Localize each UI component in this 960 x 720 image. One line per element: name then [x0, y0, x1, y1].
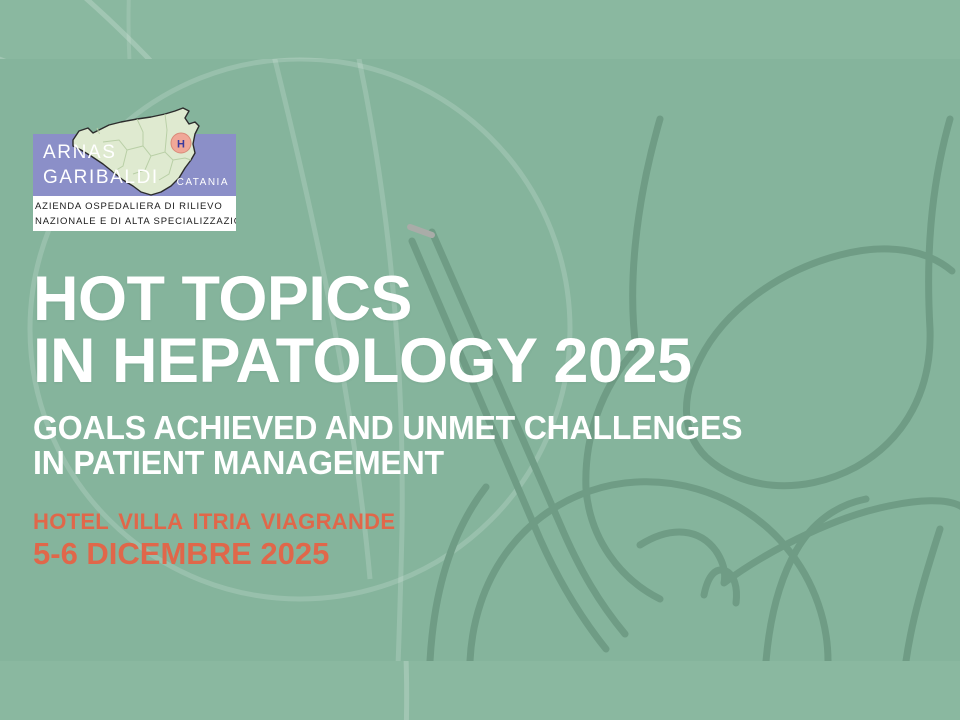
- page-title: HOT TOPICS IN HEPATOLOGY 2025: [33, 268, 923, 392]
- title-line-2: IN HEPATOLOGY 2025: [33, 330, 923, 392]
- poster-content: HOT TOPICS IN HEPATOLOGY 2025 GOALS ACHI…: [33, 268, 923, 572]
- subtitle-line-1: GOALS ACHIEVED AND UNMET CHALLENGES: [33, 410, 896, 445]
- page-subtitle: GOALS ACHIEVED AND UNMET CHALLENGES IN P…: [33, 410, 923, 480]
- logo-city-label: CATANIA: [177, 178, 229, 188]
- logo-subtitle: AZIENDA OSPEDALIERA DI RILIEVO NAZIONALE…: [33, 196, 236, 231]
- conference-poster: H ARNAS GARIBALDI CATANIA AZIENDA OSPEDA…: [0, 0, 960, 720]
- logo-subtitle-line1: AZIENDA OSPEDALIERA DI RILIEVO: [35, 199, 236, 214]
- event-venue: Hotel Villa Itria Viagrande: [33, 500, 923, 536]
- arnas-garibaldi-logo: H ARNAS GARIBALDI CATANIA AZIENDA OSPEDA…: [33, 98, 236, 231]
- logo-name-line2: GARIBALDI: [43, 168, 159, 187]
- hospital-marker-icon: H: [171, 133, 191, 153]
- svg-text:H: H: [177, 139, 185, 151]
- logo-subtitle-line2: NAZIONALE E DI ALTA SPECIALIZZAZIONE: [35, 214, 236, 229]
- event-details: Hotel Villa Itria Viagrande 5-6 DICEMBRE…: [33, 500, 923, 572]
- title-line-1: HOT TOPICS: [33, 268, 923, 330]
- event-dates: 5-6 DICEMBRE 2025: [33, 536, 923, 572]
- logo-name-line1: ARNAS: [43, 143, 116, 162]
- subtitle-line-2: IN PATIENT MANAGEMENT: [33, 445, 896, 480]
